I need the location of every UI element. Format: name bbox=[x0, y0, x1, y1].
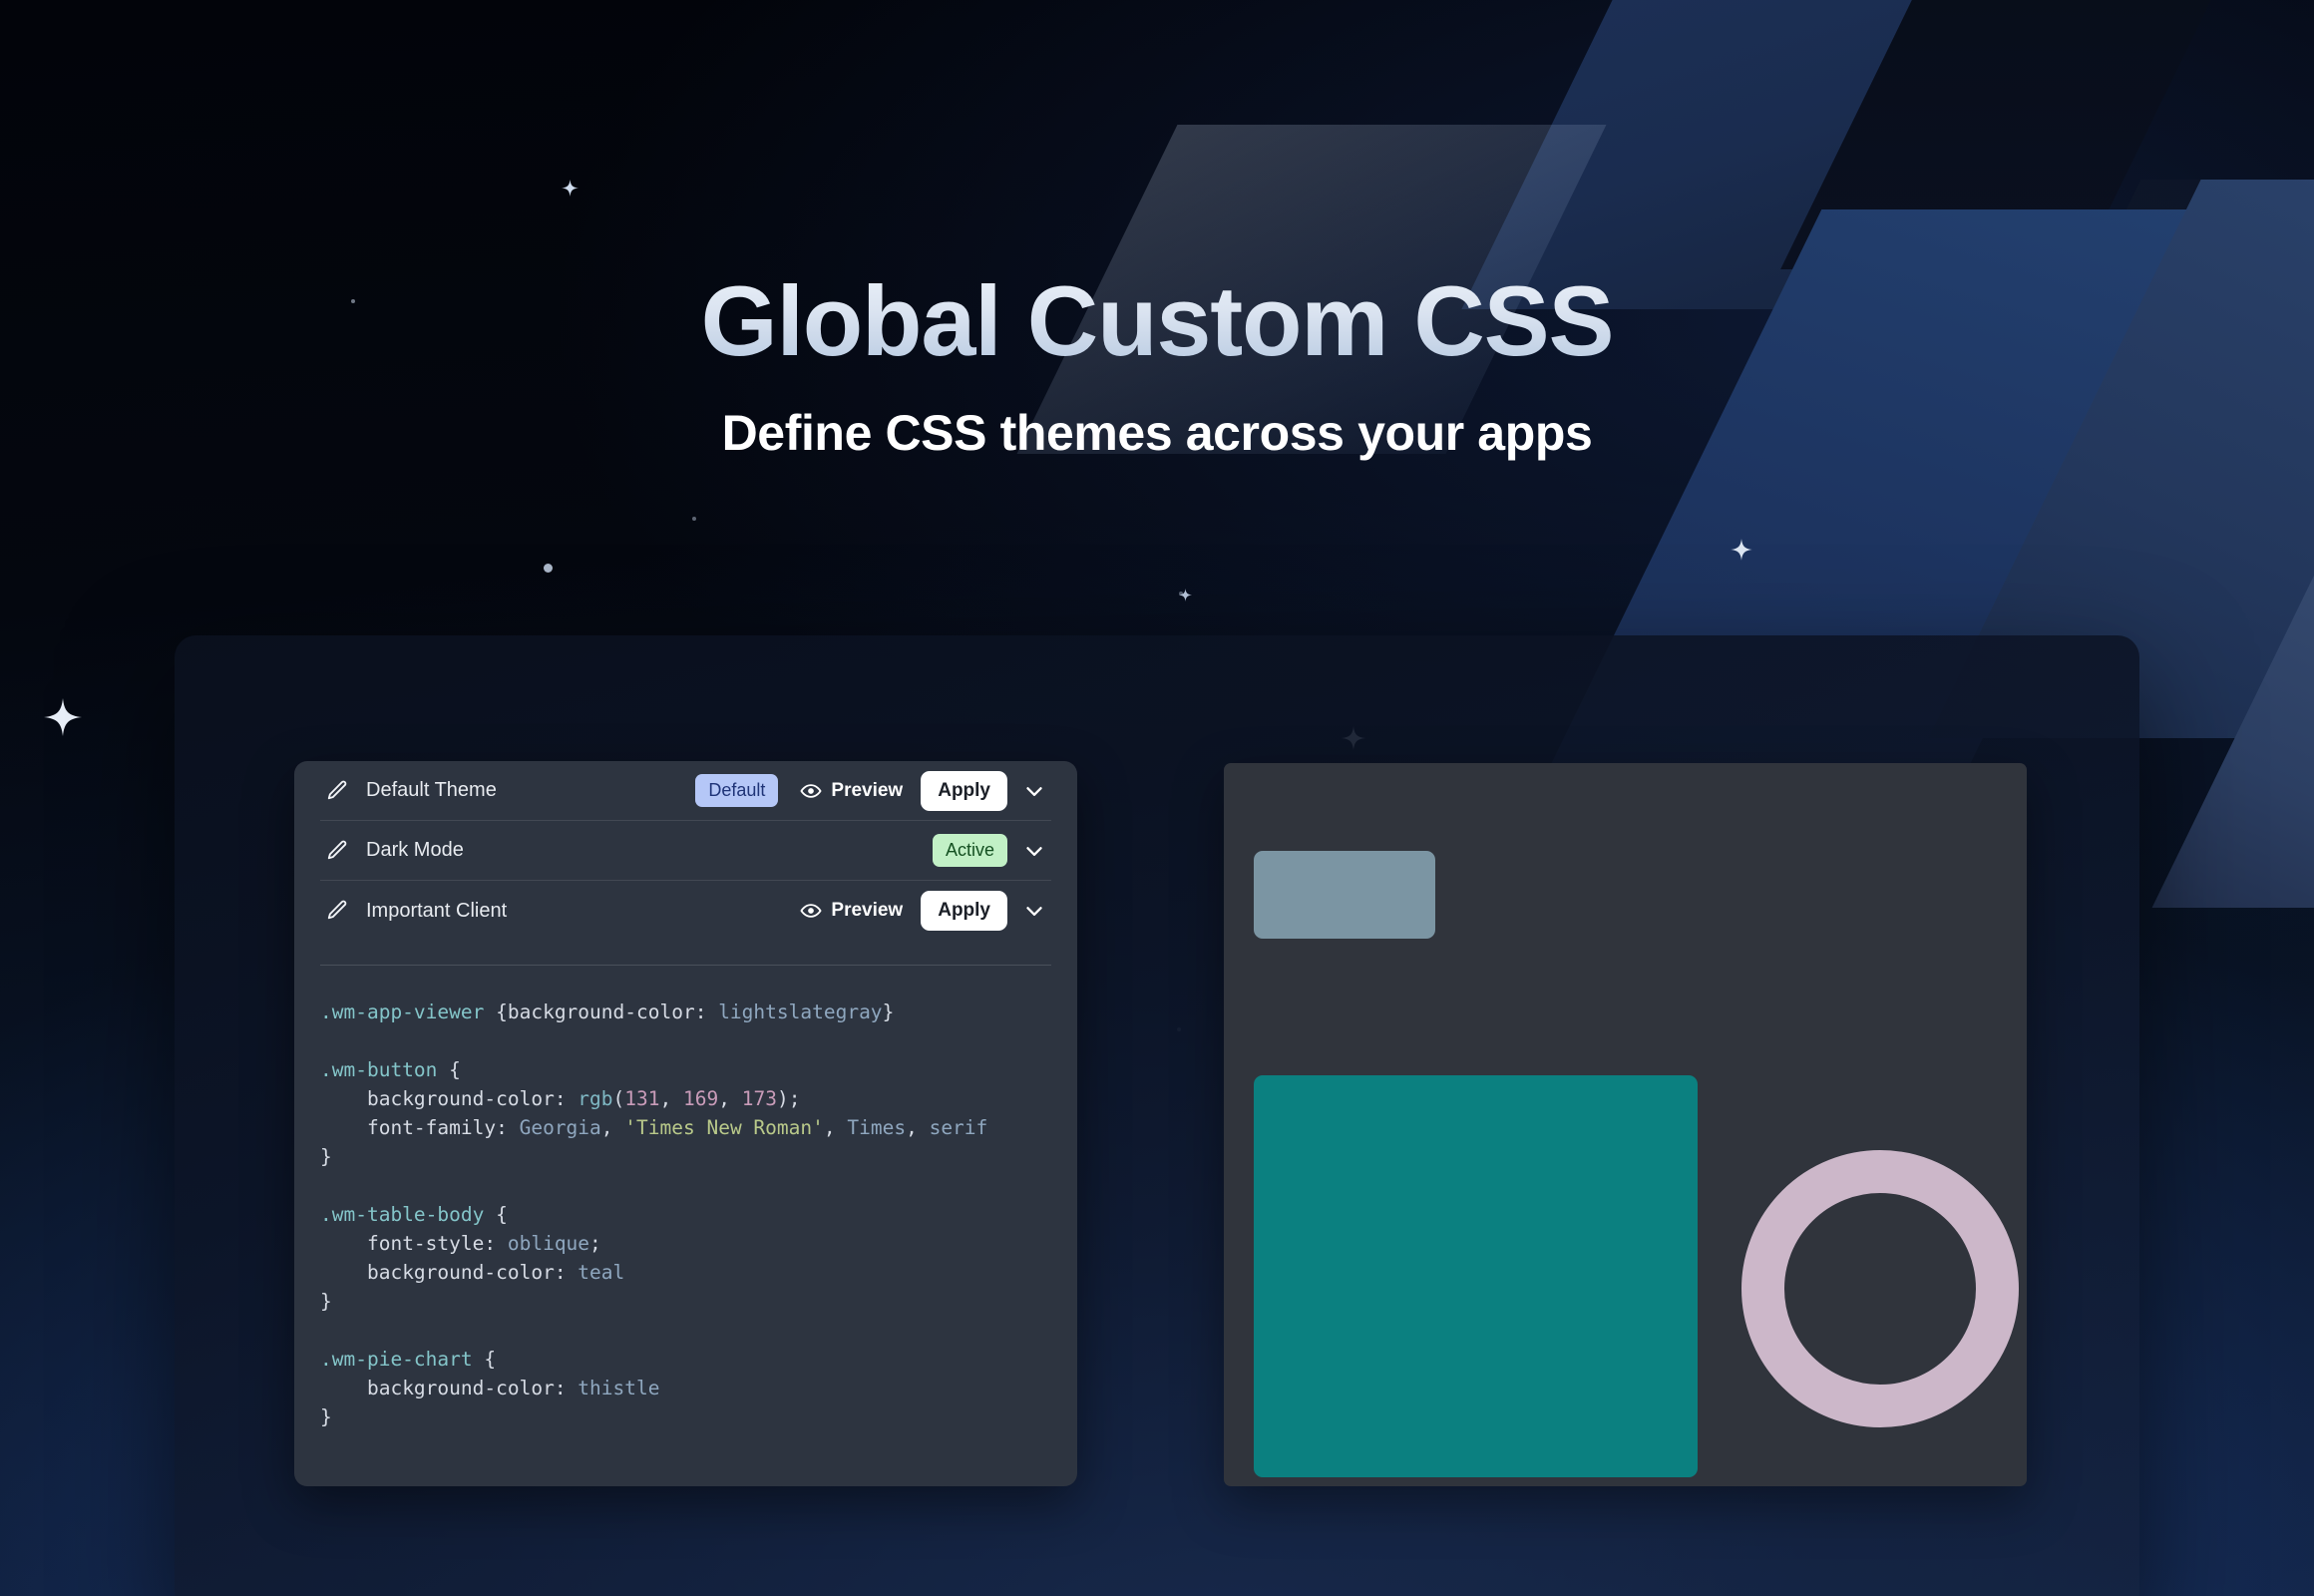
pencil-icon[interactable] bbox=[324, 778, 350, 804]
preview-wm-table-body bbox=[1254, 1075, 1698, 1477]
eye-icon bbox=[800, 900, 822, 922]
theme-list: Default Theme Default Preview Apply bbox=[294, 761, 1077, 941]
status-badge: Active bbox=[933, 834, 1007, 867]
decorative-dot bbox=[692, 517, 696, 521]
theme-manager-card: Default Theme Default Preview Apply bbox=[294, 761, 1077, 1486]
preview-wm-pie-chart bbox=[1741, 1150, 2019, 1427]
css-code-editor[interactable]: .wm-app-viewer {background-color: lights… bbox=[320, 997, 1051, 1431]
preview-wm-button[interactable] bbox=[1254, 851, 1435, 939]
theme-list-item-dark-mode[interactable]: Dark Mode Active bbox=[320, 821, 1051, 881]
eye-icon bbox=[800, 780, 822, 802]
theme-list-item-default-theme[interactable]: Default Theme Default Preview Apply bbox=[320, 761, 1051, 821]
status-badge: Default bbox=[695, 774, 778, 807]
theme-name: Dark Mode bbox=[366, 839, 464, 862]
decorative-dot bbox=[1179, 592, 1183, 596]
preview-label: Preview bbox=[831, 900, 903, 922]
card-divider bbox=[320, 965, 1051, 966]
apply-button[interactable]: Apply bbox=[921, 771, 1007, 811]
preview-label: Preview bbox=[831, 780, 903, 802]
chevron-down-icon[interactable] bbox=[1021, 778, 1047, 804]
preview-button[interactable]: Preview bbox=[800, 900, 903, 922]
page-subtitle: Define CSS themes across your apps bbox=[0, 404, 2314, 462]
theme-name: Important Client bbox=[366, 900, 507, 923]
theme-list-item-important-client[interactable]: Important Client Preview Apply bbox=[320, 881, 1051, 941]
preview-button[interactable]: Preview bbox=[800, 780, 903, 802]
decorative-dot bbox=[544, 564, 553, 573]
chevron-down-icon[interactable] bbox=[1021, 898, 1047, 924]
pencil-icon[interactable] bbox=[324, 838, 350, 864]
chevron-down-icon[interactable] bbox=[1021, 838, 1047, 864]
app-preview-panel bbox=[1224, 763, 2027, 1486]
page-title: Global Custom CSS bbox=[0, 271, 2314, 370]
pencil-icon[interactable] bbox=[324, 898, 350, 924]
theme-name: Default Theme bbox=[366, 779, 497, 802]
apply-button[interactable]: Apply bbox=[921, 891, 1007, 931]
hero-section: Global Custom CSS Define CSS themes acro… bbox=[0, 0, 2314, 462]
